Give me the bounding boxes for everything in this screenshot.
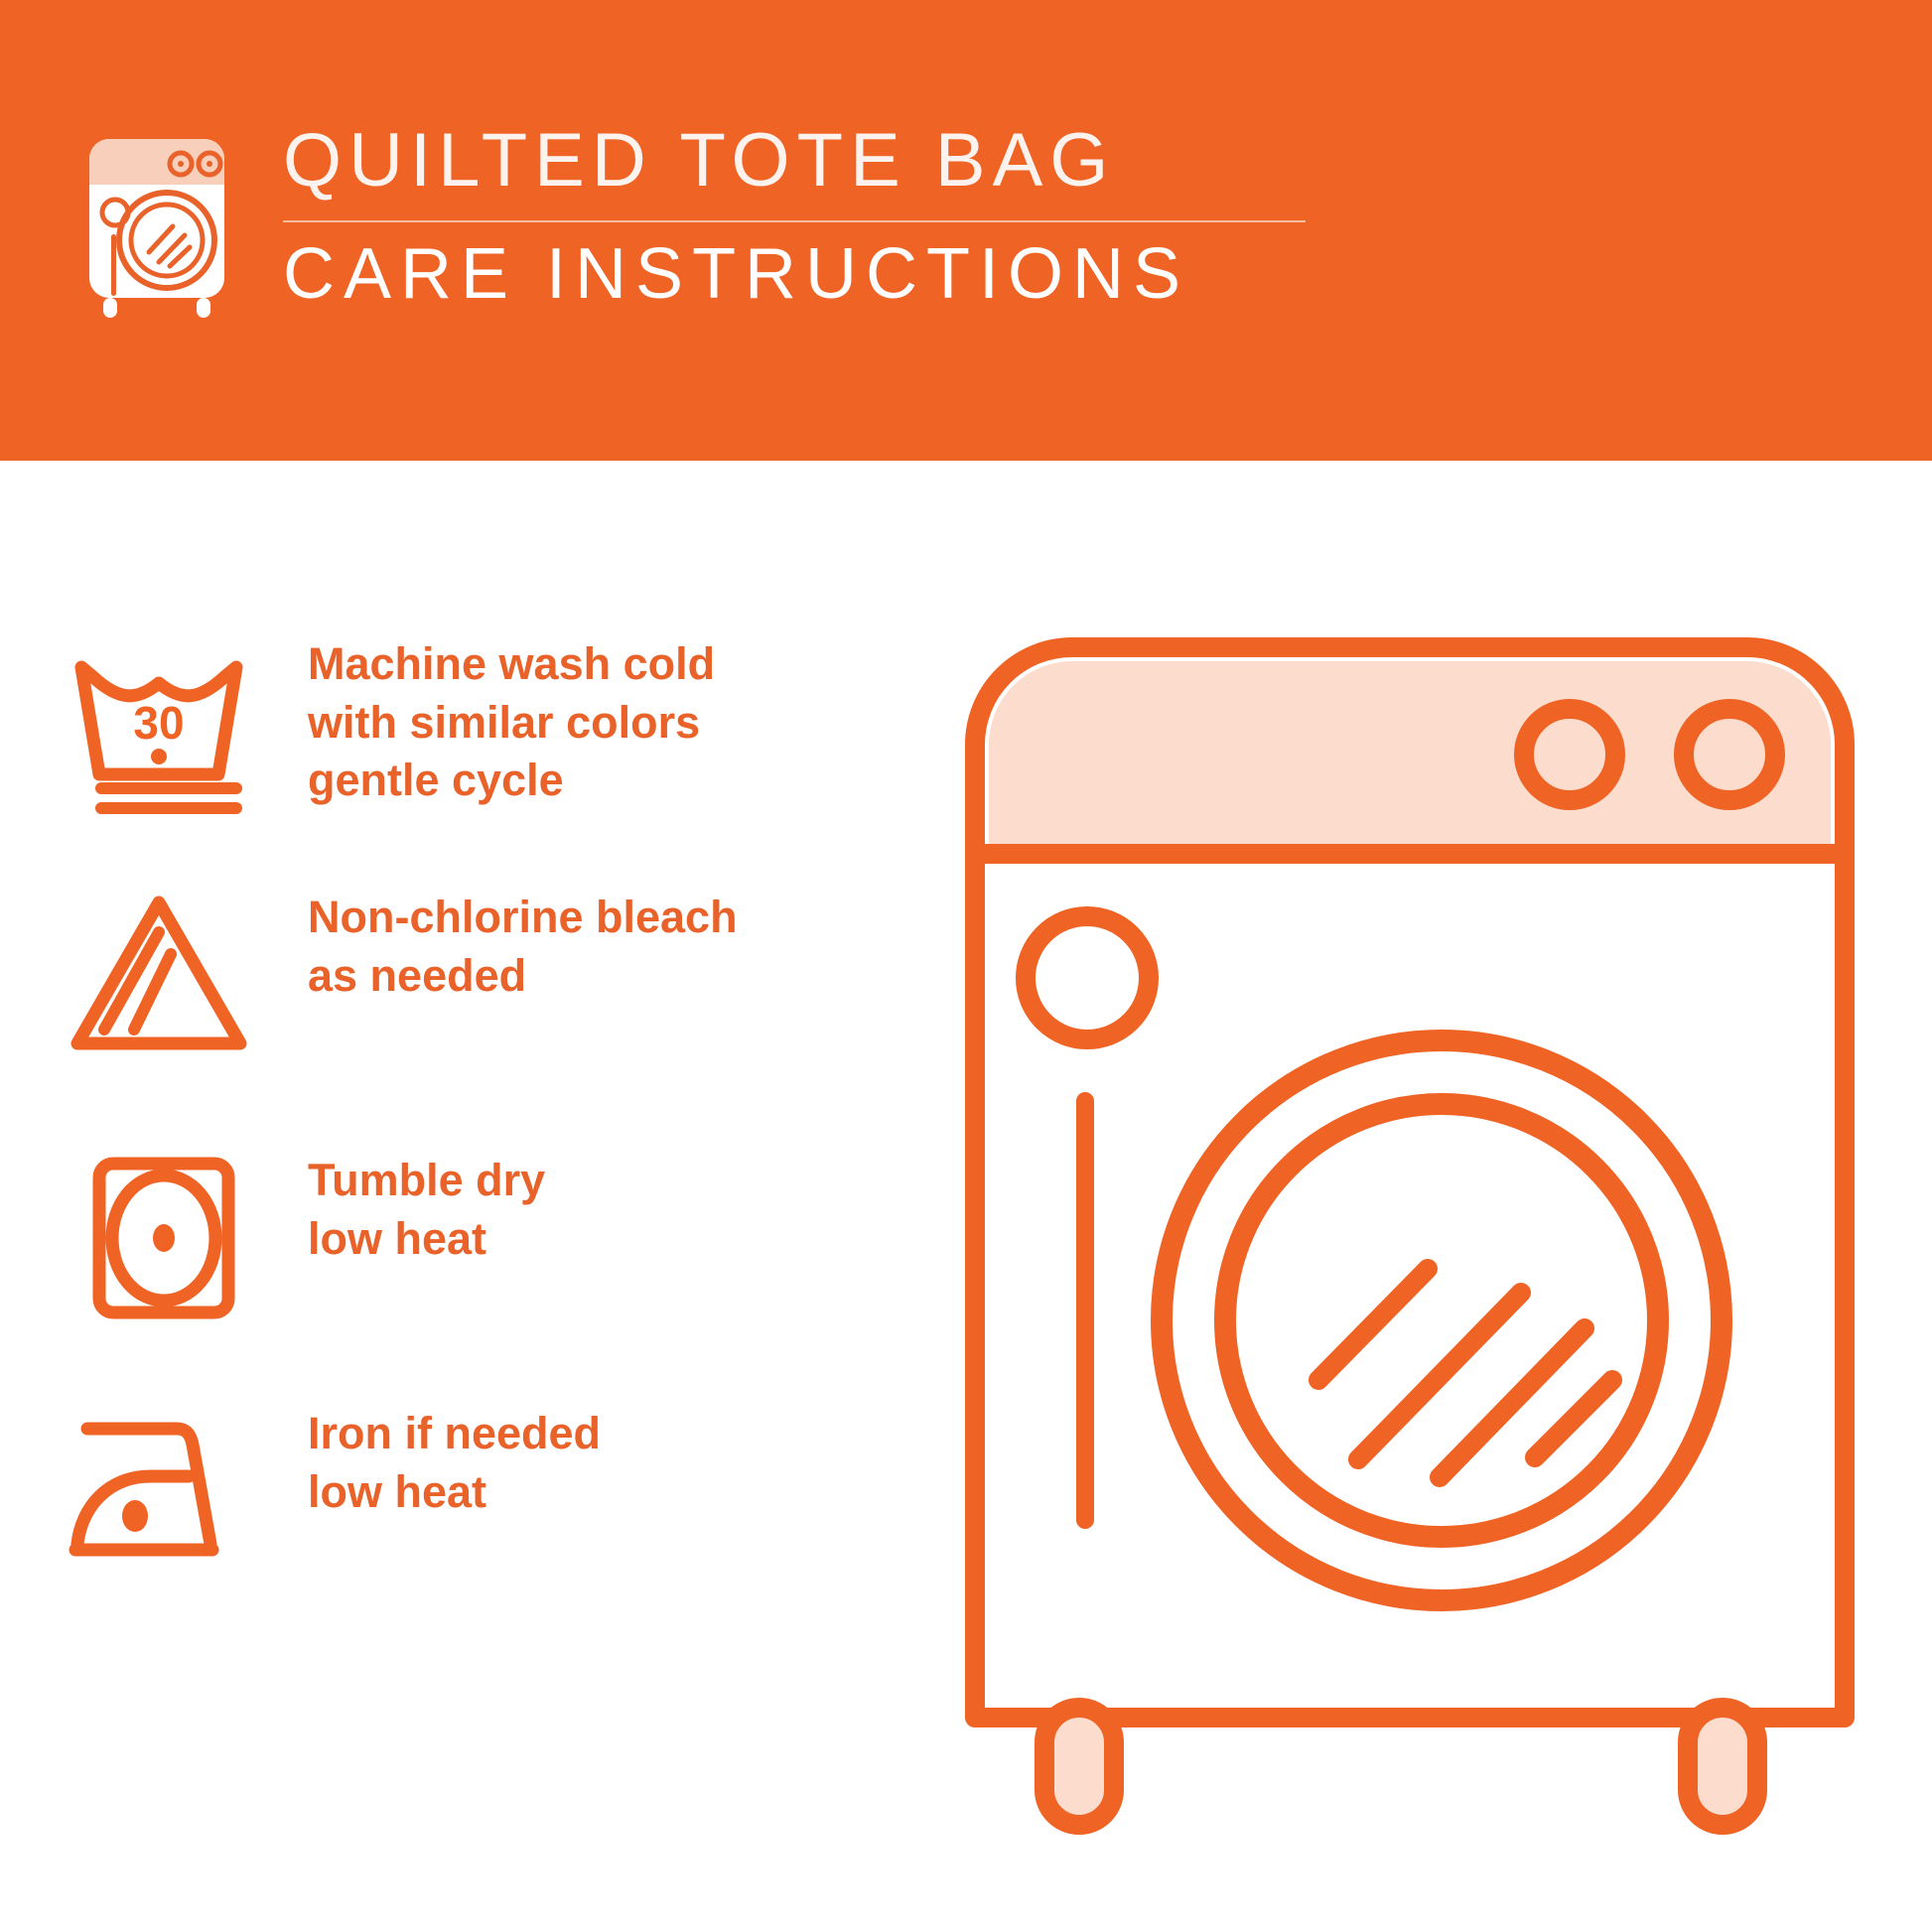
svg-text:30: 30 <box>133 697 184 749</box>
care-item-wash-label: Machine wash cold with similar colors ge… <box>308 635 715 810</box>
header-banner: QUILTED TOTE BAG CARE INSTRUCTIONS <box>0 0 1932 461</box>
non-chlorine-bleach-triangle-icon <box>60 889 308 1062</box>
washing-machine-logo-icon <box>77 131 236 322</box>
care-item-tumble-dry-label: Tumble dry low heat <box>308 1152 545 1268</box>
page-title: QUILTED TOTE BAG <box>283 123 1315 199</box>
care-item-wash: 30 Machine wash cold with similar colors… <box>60 635 715 819</box>
care-item-iron-label: Iron if needed low heat <box>308 1405 601 1521</box>
large-washing-machine-illustration <box>953 625 1866 1847</box>
title-divider <box>283 220 1306 222</box>
care-item-tumble-dry: Tumble dry low heat <box>60 1152 545 1330</box>
tumble-dry-low-icon <box>60 1152 308 1330</box>
care-item-bleach: Non-chlorine bleach as needed <box>60 889 738 1062</box>
page-subtitle: CARE INSTRUCTIONS <box>283 238 1315 310</box>
iron-low-heat-icon <box>60 1405 308 1569</box>
header-title-block: QUILTED TOTE BAG CARE INSTRUCTIONS <box>283 123 1315 310</box>
wash-tub-30-gentle-icon: 30 <box>60 635 308 819</box>
care-instructions-page: QUILTED TOTE BAG CARE INSTRUCTIONS 30 Ma… <box>0 0 1932 1932</box>
care-item-bleach-label: Non-chlorine bleach as needed <box>308 889 738 1005</box>
care-item-iron: Iron if needed low heat <box>60 1405 601 1569</box>
